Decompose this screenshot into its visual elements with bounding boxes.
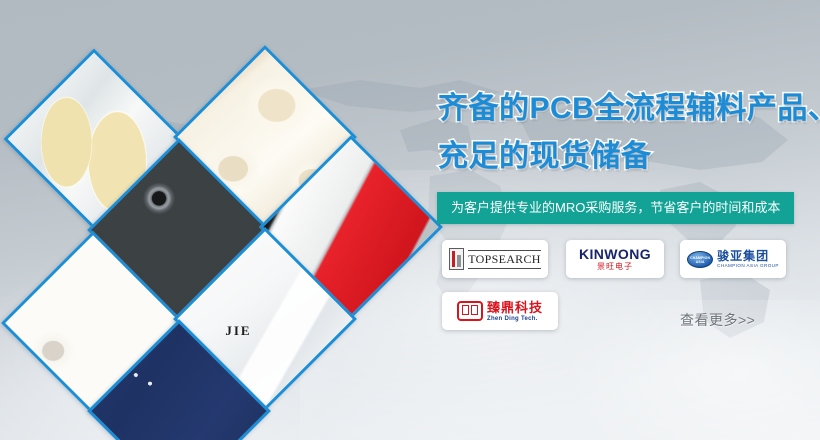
- champion-asia-english-name: CHAMPION ASIA GROUP: [717, 264, 779, 269]
- topsearch-square-mark-icon: [449, 248, 464, 270]
- product-collage: JIE: [0, 0, 420, 440]
- hero-banner: JIE 齐备的PCB全流程辅料产品、 充足的现货储备 为客户提供专业的MRO采购…: [0, 0, 820, 440]
- logo-champion-asia[interactable]: CHAMPION ASIA 骏亚集团 CHAMPION ASIA GROUP: [680, 240, 786, 278]
- zhending-chinese-name: 臻鼎科技: [487, 301, 543, 314]
- zhending-english-name: Zhen Ding Tech.: [487, 316, 543, 322]
- globe-icon: CHAMPION ASIA: [687, 251, 713, 268]
- logo-topsearch[interactable]: TOPSEARCH: [442, 240, 548, 278]
- view-more-link[interactable]: 查看更多>>: [680, 310, 755, 330]
- topsearch-wordmark: TOPSEARCH: [468, 250, 541, 269]
- headline-line-1: 齐备的PCB全流程辅料产品、: [438, 94, 820, 124]
- subtitle-bar: 为客户提供专业的MRO采购服务，节省客户的时间和成本: [437, 192, 794, 224]
- kinwong-wordmark: KINWONG: [579, 247, 651, 261]
- film-brand-text: JIE: [225, 323, 251, 339]
- champion-asia-lockup: 骏亚集团 CHAMPION ASIA GROUP: [717, 250, 779, 269]
- logo-zhending[interactable]: 臻鼎科技 Zhen Ding Tech.: [442, 292, 558, 330]
- champion-asia-chinese-name: 骏亚集团: [717, 250, 779, 262]
- zhending-lockup: 臻鼎科技 Zhen Ding Tech.: [487, 301, 543, 322]
- headline-line-2: 充足的现货储备: [438, 142, 652, 172]
- logo-kinwong[interactable]: KINWONG 景旺电子: [566, 240, 664, 278]
- kinwong-lockup: KINWONG 景旺电子: [579, 247, 651, 271]
- zhending-square-mark-icon: [457, 301, 483, 321]
- kinwong-chinese-name: 景旺电子: [597, 263, 633, 271]
- banner-content: 齐备的PCB全流程辅料产品、 充足的现货储备 为客户提供专业的MRO采购服务，节…: [430, 0, 820, 440]
- globe-label: CHAMPION ASIA: [688, 256, 712, 264]
